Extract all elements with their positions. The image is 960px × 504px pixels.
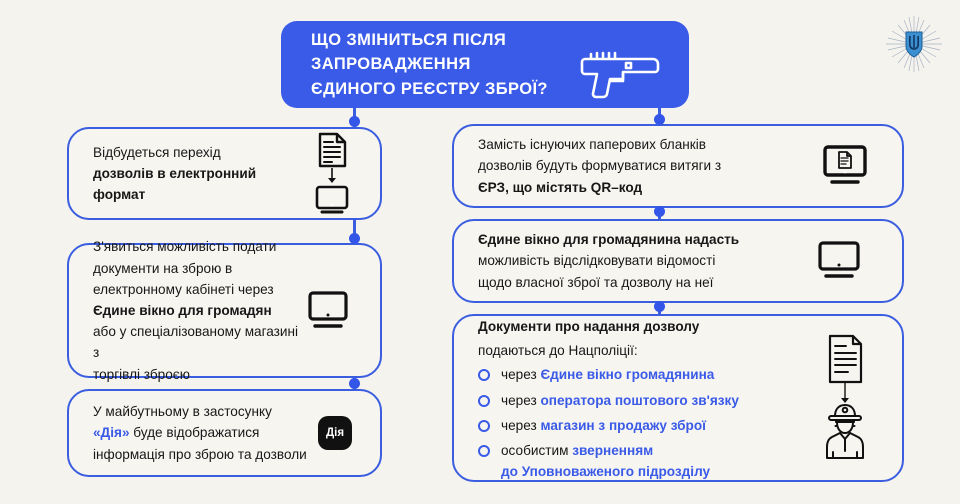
card-qr-code-extracts: Замість існуючих паперових бланків дозво… bbox=[452, 124, 904, 208]
text-plain: через bbox=[501, 418, 540, 433]
text-line: електронному кабінеті через bbox=[93, 279, 300, 300]
card-text: Відбудеться перехід дозволів в електронн… bbox=[69, 142, 310, 206]
document-to-monitor-icon bbox=[310, 132, 354, 216]
text-line-highlight: Документи про надання дозволу bbox=[478, 316, 812, 337]
infographic-title-banner: ЩО ЗМІНИТЬСЯ ПІСЛЯ ЗАПРОВАДЖЕННЯ ЄДИНОГО… bbox=[281, 21, 689, 108]
connector-dot-title-l1 bbox=[349, 116, 360, 127]
connector-dot-r1-r2 bbox=[654, 206, 665, 217]
connector-dot-l2-l3 bbox=[349, 378, 360, 389]
card-text: У майбутньому в застосунку «Дія» буде ві… bbox=[69, 401, 318, 465]
bullet-ring-icon bbox=[478, 369, 490, 381]
text-line-highlight: Єдине вікно для громадянина надасть bbox=[478, 229, 810, 250]
connector-dot-l1-l2 bbox=[349, 233, 360, 244]
list-item: через оператора поштового зв'язку bbox=[478, 391, 812, 411]
text-line: «Дія» буде відображатися bbox=[93, 422, 312, 443]
text-line-highlight: ЄРЗ, що містять QR–код bbox=[478, 177, 816, 198]
national-police-of-ukraine-emblem bbox=[884, 14, 944, 74]
connector-dot-title-r1 bbox=[654, 114, 665, 125]
text-line: документи на зброю в bbox=[93, 258, 300, 279]
list-item: особистим зверненнямдо Уповноваженого пі… bbox=[478, 441, 812, 482]
text-line-highlight: дозволів в електронний bbox=[93, 163, 304, 184]
list-item-text: через оператора поштового зв'язку bbox=[501, 391, 739, 411]
monitor-with-document-icon bbox=[822, 144, 868, 188]
text-line: подаються до Нацполіції: bbox=[478, 340, 812, 361]
bullet-ring-icon bbox=[478, 395, 490, 407]
text-highlight: оператора поштового зв'язку bbox=[540, 393, 738, 408]
card-single-window-tracking: Єдине вікно для громадянина надасть можл… bbox=[452, 219, 904, 303]
pistol-icon bbox=[577, 47, 667, 106]
text-highlight: Єдине вікно громадянина bbox=[540, 367, 714, 382]
submission-channel-list: через Єдине вікно громадянина через опер… bbox=[478, 365, 812, 482]
text-line: Замість існуючих паперових бланків bbox=[478, 134, 816, 155]
text-line: У майбутньому в застосунку bbox=[93, 401, 312, 422]
card-diia-app-display: У майбутньому в застосунку «Дія» буде ві… bbox=[67, 389, 382, 477]
list-item: через магазин з продажу зброї bbox=[478, 416, 812, 436]
diia-badge-label: Дія bbox=[318, 416, 352, 450]
bullet-ring-icon bbox=[478, 420, 490, 432]
text-line: дозволів будуть формуватися витяги з bbox=[478, 155, 816, 176]
diia-app-badge: Дія bbox=[318, 416, 352, 450]
text-line: або у спеціалізованому магазині з bbox=[93, 321, 300, 363]
bullet-ring-icon bbox=[478, 445, 490, 457]
document-to-police-officer-icon bbox=[818, 334, 872, 462]
text-plain: через bbox=[501, 367, 540, 382]
card-transition-to-electronic-format: Відбудеться перехід дозволів в електронн… bbox=[67, 127, 382, 220]
page-title: ЩО ЗМІНИТЬСЯ ПІСЛЯ ЗАПРОВАДЖЕННЯ ЄДИНОГО… bbox=[311, 28, 548, 101]
card-text: Єдине вікно для громадянина надасть можл… bbox=[454, 229, 816, 293]
text-highlight: «Дія» bbox=[93, 425, 130, 440]
text-line: торгівлі зброєю bbox=[93, 364, 300, 385]
text-line: щодо власної зброї та дозволу на неї bbox=[478, 272, 810, 293]
text-highlight: магазин з продажу зброї bbox=[540, 418, 706, 433]
text-plain: буде відображатися bbox=[130, 425, 260, 440]
card-text: Замість існуючих паперових бланків дозво… bbox=[454, 134, 822, 198]
text-line: З'явиться можливість подати bbox=[93, 236, 300, 257]
list-item-text: особистим зверненнямдо Уповноваженого пі… bbox=[501, 441, 710, 482]
text-plain: через bbox=[501, 393, 540, 408]
card-permit-submission-channels: Документи про надання дозволу подаються … bbox=[452, 314, 904, 482]
infographic-canvas: ЩО ЗМІНИТЬСЯ ПІСЛЯ ЗАПРОВАДЖЕННЯ ЄДИНОГО… bbox=[0, 0, 960, 504]
text-line-highlight: Єдине вікно для громадян bbox=[93, 300, 300, 321]
monitor-icon bbox=[306, 290, 350, 332]
card-text: З'явиться можливість подати документи на… bbox=[69, 236, 306, 384]
text-line-highlight: формат bbox=[93, 184, 304, 205]
text-line: інформація про зброю та дозволи bbox=[93, 444, 312, 465]
card-text: Документи про надання дозволу подаються … bbox=[454, 314, 818, 482]
monitor-icon bbox=[816, 240, 862, 282]
connector-dot-r2-r3 bbox=[654, 301, 665, 312]
text-line: можливість відслідковувати відомості bbox=[478, 250, 810, 271]
text-highlight: зверненням bbox=[572, 443, 653, 458]
list-item-text: через магазин з продажу зброї bbox=[501, 416, 706, 436]
card-submit-documents-electronically: З'явиться можливість подати документи на… bbox=[67, 243, 382, 378]
text-line: Відбудеться перехід bbox=[93, 142, 304, 163]
list-item: через Єдине вікно громадянина bbox=[478, 365, 812, 385]
list-item-text: через Єдине вікно громадянина bbox=[501, 365, 714, 385]
text-plain: особистим bbox=[501, 443, 572, 458]
text-highlight: до Уповноваженого підрозділу bbox=[501, 464, 710, 479]
